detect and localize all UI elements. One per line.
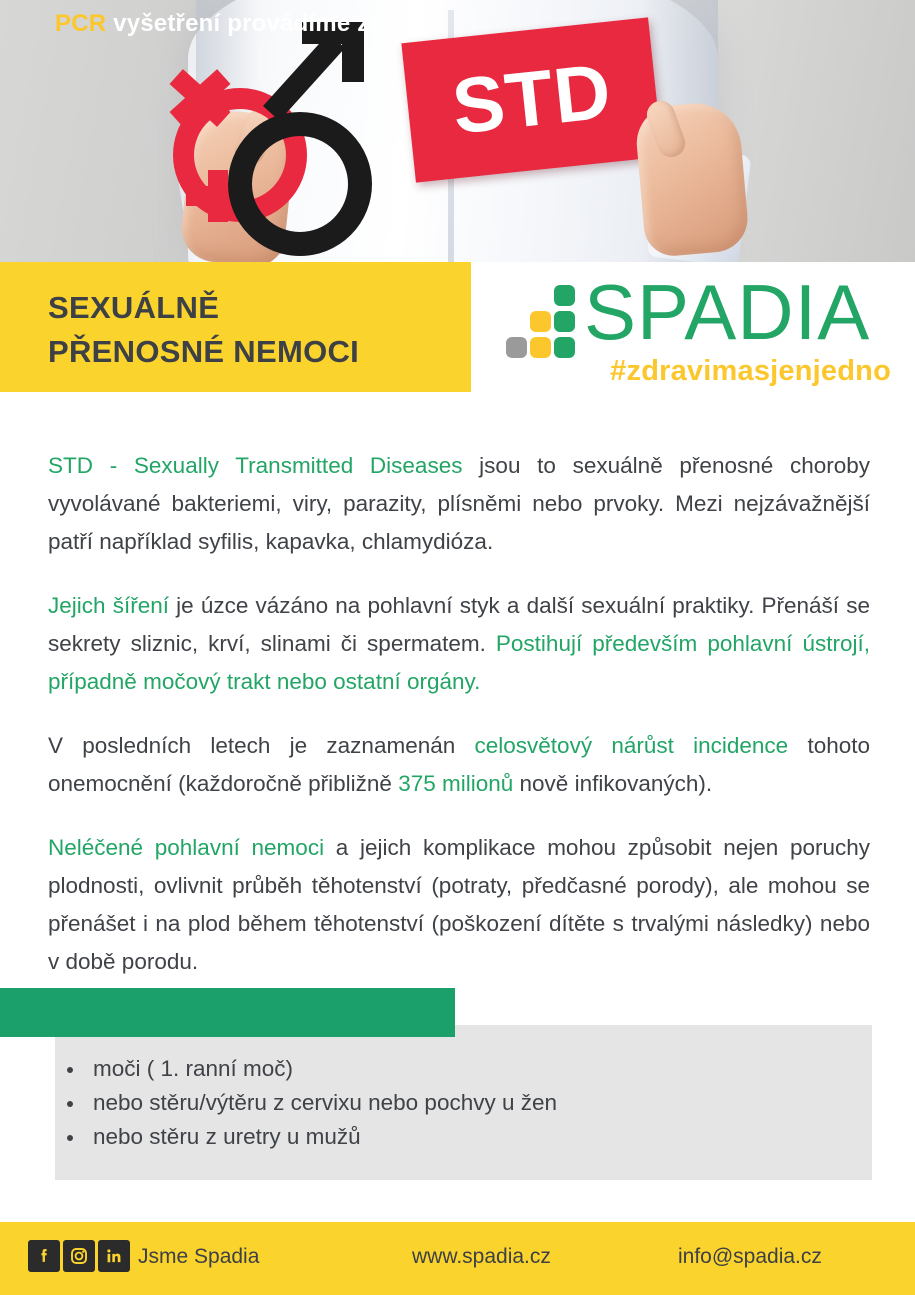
facebook-icon[interactable] [28,1240,60,1272]
pcr-heading-accent: PCR [55,10,106,37]
logo-tile-yellow-bottom [530,337,551,358]
logo-tile-grid-icon [506,283,582,359]
poster-page: STD SEXUÁLNĚ PŘENOSNÉ NEMOCI SPADIA #zdr… [0,0,915,1295]
title-banner: SEXUÁLNĚ PŘENOSNÉ NEMOCI [0,262,471,392]
std-card-text: STD [404,47,659,150]
list-item: nebo stěru z uretry u mužů [93,1120,557,1154]
paragraph-3-highlight-1: celosvětový nárůst incidence [475,733,789,758]
hero-photo: STD [0,0,915,262]
pcr-heading-rest: vyšetření provádíme z: [106,10,377,37]
paragraph-3-highlight-2: 375 milionů [398,771,513,796]
spadia-logo: SPADIA #zdravimasjenjedno [506,283,891,388]
paragraph-1-highlight: STD - Sexually Transmitted Diseases [48,453,462,478]
pcr-list: moči ( 1. ranní moč) nebo stěru/výtěru z… [45,1052,557,1154]
male-symbol-ring [228,112,372,256]
instagram-icon[interactable] [63,1240,95,1272]
footer-email[interactable]: info@spadia.cz [678,1245,822,1269]
social-icons [28,1240,130,1272]
logo-tile-green-top [554,285,575,306]
pcr-heading-bar [0,988,455,1037]
logo-hashtag: #zdravimasjenjedno [569,355,891,388]
std-card: STD [401,17,662,182]
paragraph-2-highlight-1: Jejich šíření [48,593,169,618]
paragraph-1: STD - Sexually Transmitted Diseases jsou… [48,447,870,561]
paragraph-4: Neléčené pohlavní nemoci a jejich kompli… [48,829,870,981]
logo-tile-yellow-middle [530,311,551,332]
paragraph-3-start: V posledních letech je zaznamenán [48,733,475,758]
page-title-line-1: SEXUÁLNĚ [48,290,219,325]
logo-tile-green-middle [554,311,575,332]
logo-wordmark: SPADIA [584,273,870,351]
footer-website[interactable]: www.spadia.cz [412,1245,551,1269]
paragraph-2: Jejich šíření je úzce vázáno na pohlavní… [48,587,870,701]
paragraph-3: V posledních letech je zaznamenán celosv… [48,727,870,803]
paragraph-4-highlight: Neléčené pohlavní nemoci [48,835,324,860]
footer-social-label: Jsme Spadia [138,1245,259,1269]
list-item: nebo stěru/výtěru z cervixu nebo pochvy … [93,1086,557,1120]
pcr-heading: PCR vyšetření provádíme z: [55,10,378,38]
page-title-line-2: PŘENOSNÉ NEMOCI [48,330,448,374]
body-content: STD - Sexually Transmitted Diseases jsou… [48,447,870,981]
list-item: moči ( 1. ranní moč) [93,1052,557,1086]
paragraph-3-end: nově infikovaných). [513,771,712,796]
logo-tile-gray-bottom [506,337,527,358]
linkedin-icon[interactable] [98,1240,130,1272]
page-title: SEXUÁLNĚ PŘENOSNÉ NEMOCI [48,286,448,374]
